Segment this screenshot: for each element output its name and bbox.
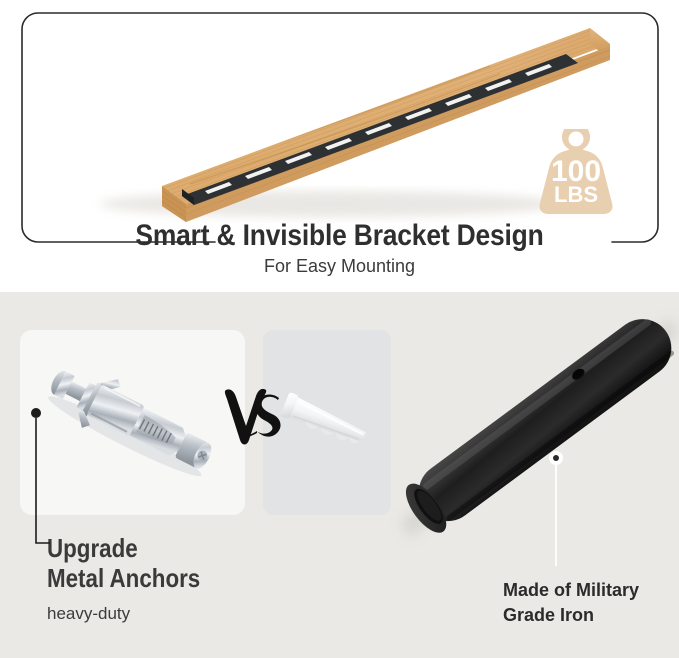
invisible-bracket [182, 54, 578, 205]
iron-pipe-label-line1: Made of Military [503, 580, 639, 600]
metal-anchor-callout-leader [20, 395, 90, 565]
metal-anchor-title-line2: Metal Anchors [47, 563, 200, 593]
page-headline: Smart & Invisible Bracket Design [41, 219, 639, 253]
iron-pipe-label: Made of Military Grade Iron [503, 578, 639, 628]
iron-pipe-illustration [370, 290, 679, 580]
product-infographic: 100 LBS Smart & Invisible Bracket Design… [0, 0, 679, 658]
metal-anchor-subtitle: heavy-duty [47, 604, 130, 624]
weight-capacity-badge: 100 LBS [529, 129, 623, 215]
top-panel-bracket-design: 100 LBS Smart & Invisible Bracket Design… [0, 0, 679, 292]
callout-dot [31, 408, 41, 418]
badge-unit: LBS [554, 182, 598, 207]
page-subheadline: For Easy Mounting [0, 256, 679, 277]
iron-pipe-callout-leader [540, 448, 580, 570]
iron-pipe-label-line2: Grade Iron [503, 605, 594, 625]
vs-comparison-icon [222, 382, 292, 454]
